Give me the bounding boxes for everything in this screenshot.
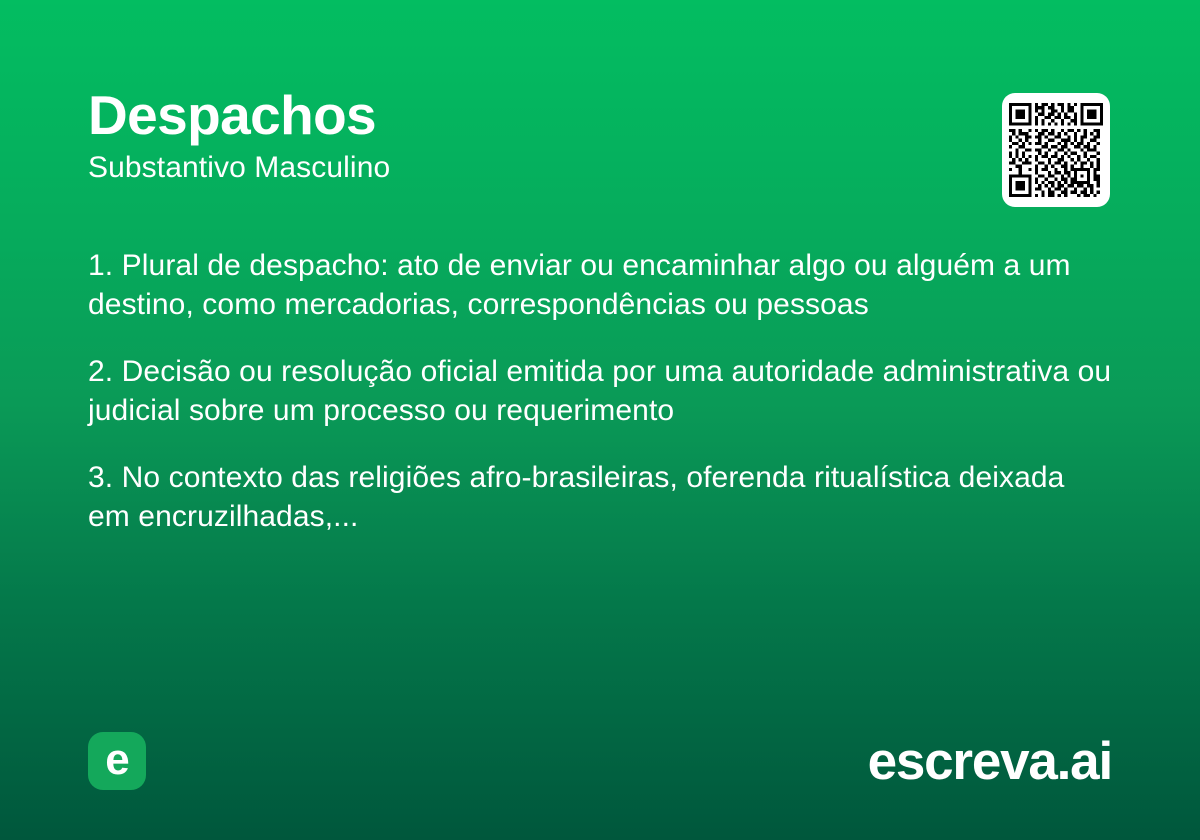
- definition-list: 1. Plural de despacho: ato de enviar ou …: [88, 246, 1112, 536]
- escreva-logo-icon: e: [88, 732, 146, 790]
- definition-item: 2. Decisão ou resolução oficial emitida …: [88, 352, 1112, 430]
- word-class-label: Substantivo Masculino: [88, 151, 1112, 184]
- definition-item: 3. No contexto das religiões afro-brasil…: [88, 458, 1112, 536]
- definition-item: 1. Plural de despacho: ato de enviar ou …: [88, 246, 1112, 324]
- dictionary-card: Despachos Substantivo Masculino: [0, 0, 1200, 840]
- card-footer: e escreva.ai: [88, 730, 1112, 792]
- brand-wordmark: escreva.ai: [868, 735, 1112, 788]
- logo-letter: e: [105, 738, 128, 782]
- page-title: Despachos: [88, 86, 1112, 145]
- qr-code-panel[interactable]: [1002, 93, 1110, 207]
- qr-code-icon: [1009, 103, 1103, 197]
- card-header: Despachos Substantivo Masculino: [88, 86, 1112, 184]
